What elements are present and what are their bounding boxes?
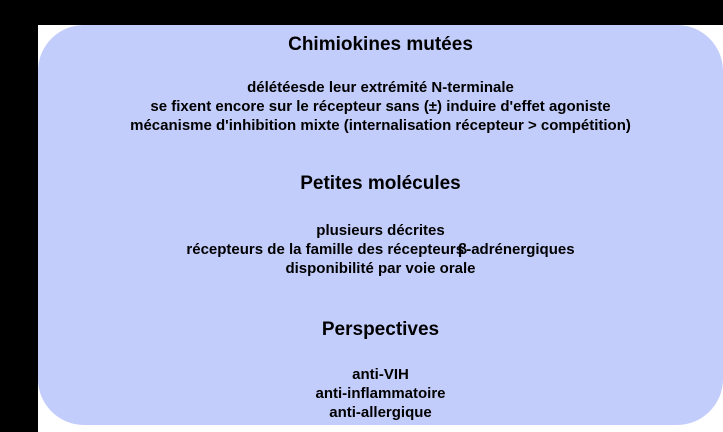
body-line-prefix: récepteurs de la famille des récepteurs (186, 241, 464, 258)
body-line: anti-inflammatoire (38, 384, 723, 403)
left-black-margin (0, 0, 38, 432)
body-line: délétéesde leur extrémité N-terminale (38, 78, 723, 97)
heading-text: Chimiokines mutées (38, 34, 723, 56)
section-heading-perspectives: Perspectives (38, 319, 723, 341)
slide-content: Chimiokines mutées délétéesde leur extré… (38, 25, 723, 425)
section-heading-petites-molecules: Petites molécules (38, 173, 723, 195)
slide-canvas: Chimiokines mutées délétéesde leur extré… (0, 0, 723, 432)
body-line: se fixent encore sur le récepteur sans (… (38, 97, 723, 116)
heading-text: Petites molécules (38, 173, 723, 195)
section-body-petites-molecules: plusieurs décrites récepteurs de la fami… (38, 221, 723, 278)
section-body-chimiokines: délétéesde leur extrémité N-terminale se… (38, 78, 723, 135)
heading-text: Perspectives (38, 319, 723, 341)
section-body-perspectives: anti-VIH anti-inflammatoire anti-allergi… (38, 365, 723, 422)
body-line: disponibilité par voie orale (38, 259, 723, 278)
body-line: anti-allergique (38, 403, 723, 422)
body-line: anti-VIH (38, 365, 723, 384)
section-heading-chimiokines: Chimiokines mutées (38, 34, 723, 56)
body-line: plusieurs décrites (38, 221, 723, 240)
top-black-margin (0, 0, 723, 25)
body-line-suffix: -adrénergiques (466, 241, 574, 258)
body-line-adrenergiques: récepteurs de la famille des récepteursβ… (38, 240, 723, 259)
body-line: mécanisme d'inhibition mixte (internalis… (38, 116, 723, 135)
